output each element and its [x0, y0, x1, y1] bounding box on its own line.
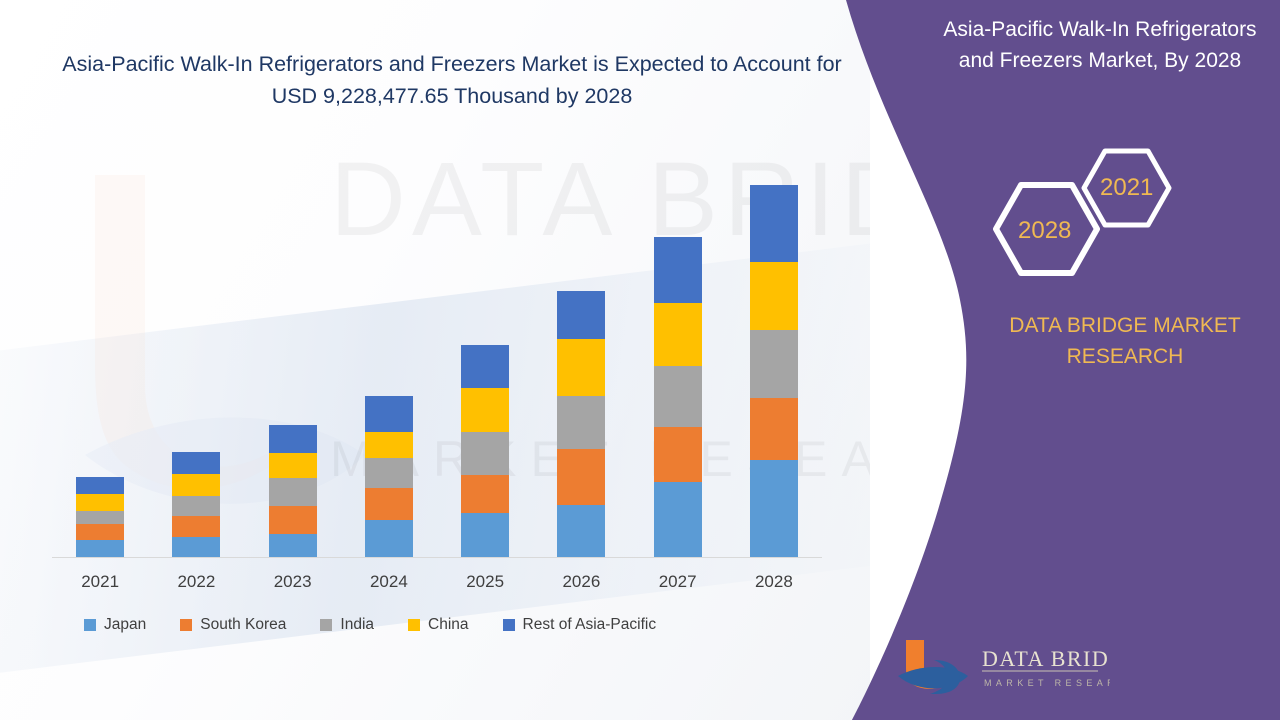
x-axis-labels: 20212022202320242025202620272028 — [52, 572, 822, 600]
chart-legend: JapanSouth KoreaIndiaChinaRest of Asia-P… — [84, 616, 690, 634]
segment-china-2028 — [750, 262, 798, 330]
stacked-bar-chart — [52, 140, 822, 558]
svg-text:DATA BRIDGE: DATA BRIDGE — [982, 646, 1110, 671]
segment-japan-2023 — [269, 534, 317, 557]
chart-panel: DATA BRIDGE MARKET RESEARCH Asia-Pacific… — [0, 0, 870, 720]
segment-india-2026 — [557, 396, 605, 449]
x-axis-label-2025: 2025 — [445, 572, 525, 592]
hexagon-label-2021: 2021 — [1100, 174, 1153, 202]
bar-2027 — [654, 237, 702, 557]
legend-label: Japan — [104, 616, 146, 634]
x-axis-label-2022: 2022 — [156, 572, 236, 592]
segment-rest-of-asia-pacific-2022 — [172, 452, 220, 474]
x-axis-label-2028: 2028 — [734, 572, 814, 592]
segment-india-2024 — [365, 458, 413, 488]
infographic-slide: DATA BRIDGE MARKET RESEARCH Asia-Pacific… — [0, 0, 1280, 720]
axis-baseline — [52, 557, 822, 558]
bar-2028 — [750, 185, 798, 557]
segment-south-korea-2024 — [365, 488, 413, 520]
segment-japan-2024 — [365, 520, 413, 557]
bar-2024 — [365, 396, 413, 557]
segment-south-korea-2028 — [750, 398, 798, 460]
svg-text:MARKET RESEARCH: MARKET RESEARCH — [984, 678, 1110, 688]
segment-india-2028 — [750, 330, 798, 398]
segment-japan-2022 — [172, 537, 220, 557]
legend-label: China — [428, 616, 469, 634]
bar-2026 — [557, 291, 605, 557]
segment-china-2024 — [365, 432, 413, 458]
x-axis-label-2026: 2026 — [541, 572, 621, 592]
segment-japan-2028 — [750, 460, 798, 557]
legend-swatch-icon — [320, 619, 332, 631]
segment-india-2022 — [172, 496, 220, 516]
year-hexagons: 2021 2028 — [975, 145, 1200, 290]
segment-south-korea-2023 — [269, 506, 317, 534]
segment-rest-of-asia-pacific-2025 — [461, 345, 509, 388]
x-axis-label-2027: 2027 — [638, 572, 718, 592]
legend-label: South Korea — [200, 616, 286, 634]
segment-china-2027 — [654, 303, 702, 366]
segment-rest-of-asia-pacific-2021 — [76, 477, 124, 494]
data-bridge-logo-icon: DATA BRIDGE MARKET RESEARCH — [890, 636, 1110, 698]
legend-swatch-icon — [180, 619, 192, 631]
segment-rest-of-asia-pacific-2026 — [557, 291, 605, 339]
segment-japan-2027 — [654, 482, 702, 557]
segment-japan-2025 — [461, 513, 509, 557]
segment-india-2025 — [461, 432, 509, 475]
segment-china-2026 — [557, 339, 605, 396]
segment-japan-2026 — [557, 505, 605, 557]
segment-rest-of-asia-pacific-2027 — [654, 237, 702, 303]
segment-south-korea-2021 — [76, 524, 124, 540]
legend-label: India — [340, 616, 374, 634]
x-axis-label-2023: 2023 — [253, 572, 333, 592]
segment-south-korea-2026 — [557, 449, 605, 505]
bar-2025 — [461, 345, 509, 557]
x-axis-label-2021: 2021 — [60, 572, 140, 592]
data-bridge-logo: DATA BRIDGE MARKET RESEARCH — [890, 636, 1110, 698]
segment-rest-of-asia-pacific-2024 — [365, 396, 413, 432]
brand-name-text: DATA BRIDGE MARKET RESEARCH — [975, 310, 1275, 372]
bar-2023 — [269, 425, 317, 557]
bar-2022 — [172, 452, 220, 557]
segment-rest-of-asia-pacific-2028 — [750, 185, 798, 262]
segment-south-korea-2022 — [172, 516, 220, 537]
segment-japan-2021 — [76, 540, 124, 557]
segment-china-2022 — [172, 474, 220, 496]
segment-india-2027 — [654, 366, 702, 427]
bar-2021 — [76, 477, 124, 557]
x-axis-label-2024: 2024 — [349, 572, 429, 592]
page-title: Asia-Pacific Walk-In Refrigerators and F… — [52, 48, 852, 112]
legend-item-japan[interactable]: Japan — [84, 616, 146, 634]
legend-item-china[interactable]: China — [408, 616, 469, 634]
legend-item-south-korea[interactable]: South Korea — [180, 616, 286, 634]
segment-china-2021 — [76, 494, 124, 511]
segment-india-2023 — [269, 478, 317, 506]
segment-rest-of-asia-pacific-2023 — [269, 425, 317, 453]
hexagon-label-2028: 2028 — [1018, 217, 1071, 245]
segment-china-2023 — [269, 453, 317, 478]
legend-item-rest-of-asia-pacific[interactable]: Rest of Asia-Pacific — [503, 616, 657, 634]
legend-swatch-icon — [84, 619, 96, 631]
segment-india-2021 — [76, 511, 124, 524]
segment-south-korea-2027 — [654, 427, 702, 482]
segment-south-korea-2025 — [461, 475, 509, 513]
legend-swatch-icon — [408, 619, 420, 631]
hexagon-outlines-icon — [975, 145, 1200, 290]
legend-swatch-icon — [503, 619, 515, 631]
legend-item-india[interactable]: India — [320, 616, 374, 634]
legend-label: Rest of Asia-Pacific — [523, 616, 657, 634]
segment-china-2025 — [461, 388, 509, 432]
brand-panel-title: Asia-Pacific Walk-In Refrigerators and F… — [930, 14, 1270, 76]
